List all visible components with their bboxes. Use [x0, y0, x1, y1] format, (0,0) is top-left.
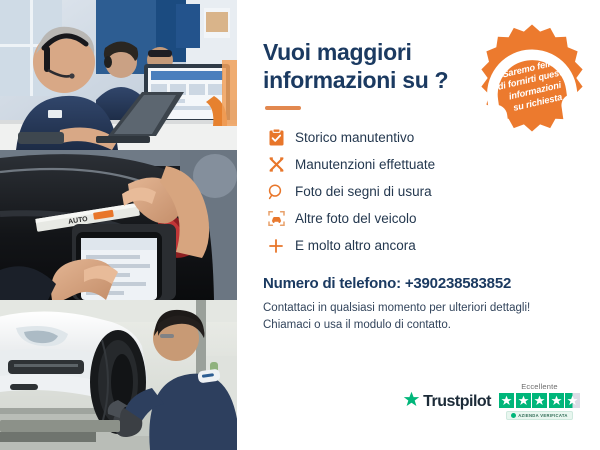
page-title: Vuoi maggiori informazioni su ?: [263, 38, 478, 94]
phone-number[interactable]: Numero di telefono: +390238583852: [263, 275, 580, 292]
list-item-label: Manutenzioni effettuate: [295, 157, 435, 172]
photo-column: AUTO: [0, 0, 237, 450]
trustpilot-rating[interactable]: Trustpilot Eccellente: [403, 382, 580, 420]
list-item: E molto altro ancora: [263, 232, 580, 259]
headline-line-1: Vuoi maggiori: [263, 39, 412, 65]
car-scan-frame-icon: [263, 210, 289, 227]
list-item: Manutenzioni effettuate: [263, 151, 580, 178]
verified-badge: AZIENDA VERIFICATA: [506, 411, 573, 420]
headset-icon: [469, 31, 595, 157]
contact-note-line-1: Contattaci in qualsiasi momento per ulte…: [263, 302, 530, 314]
star-icon: [532, 393, 547, 408]
crossed-tools-icon: [263, 156, 289, 173]
magnifier-icon: [263, 184, 289, 200]
list-item-label: Altre foto del veicolo: [295, 211, 417, 226]
trustpilot-stars: [499, 393, 580, 408]
half-star-icon: [565, 393, 580, 408]
clipboard-check-icon: [263, 129, 289, 146]
vehicle-inspection-photo: AUTO: [0, 150, 237, 300]
status-badge: Saremo felici di fornirti queste informa…: [476, 22, 588, 134]
verified-label: AZIENDA VERIFICATA: [518, 413, 568, 418]
trustpilot-logo: Trustpilot: [403, 391, 491, 420]
star-icon: [549, 393, 564, 408]
plus-icon: [263, 238, 289, 254]
list-item: Altre foto del veicolo: [263, 205, 580, 232]
trustpilot-score-block: Eccellente: [499, 382, 580, 420]
promo-banner: AUTO: [0, 0, 600, 450]
verified-check-icon: [511, 413, 516, 418]
contact-note: Contattaci in qualsiasi momento per ulte…: [263, 300, 580, 335]
content-panel: Vuoi maggiori informazioni su ? Storico …: [237, 0, 600, 450]
title-underline-rule: [265, 106, 301, 110]
headline-line-2: informazioni su ?: [263, 67, 448, 93]
star-icon: [499, 393, 514, 408]
call-center-agent-photo: [0, 0, 237, 150]
workshop-lift-photo: [0, 300, 237, 450]
contact-note-line-2: Chiamaci o usa il modulo di contatto.: [263, 319, 451, 331]
trustpilot-wordmark: Trustpilot: [423, 393, 491, 411]
trustpilot-star-icon: [403, 391, 420, 413]
list-item-label: Storico manutentivo: [295, 130, 414, 145]
list-item-label: E molto altro ancora: [295, 238, 416, 253]
list-item-label: Foto dei segni di usura: [295, 184, 432, 199]
trustpilot-rating-label: Eccellente: [521, 382, 558, 391]
star-icon: [516, 393, 531, 408]
list-item: Foto dei segni di usura: [263, 178, 580, 205]
